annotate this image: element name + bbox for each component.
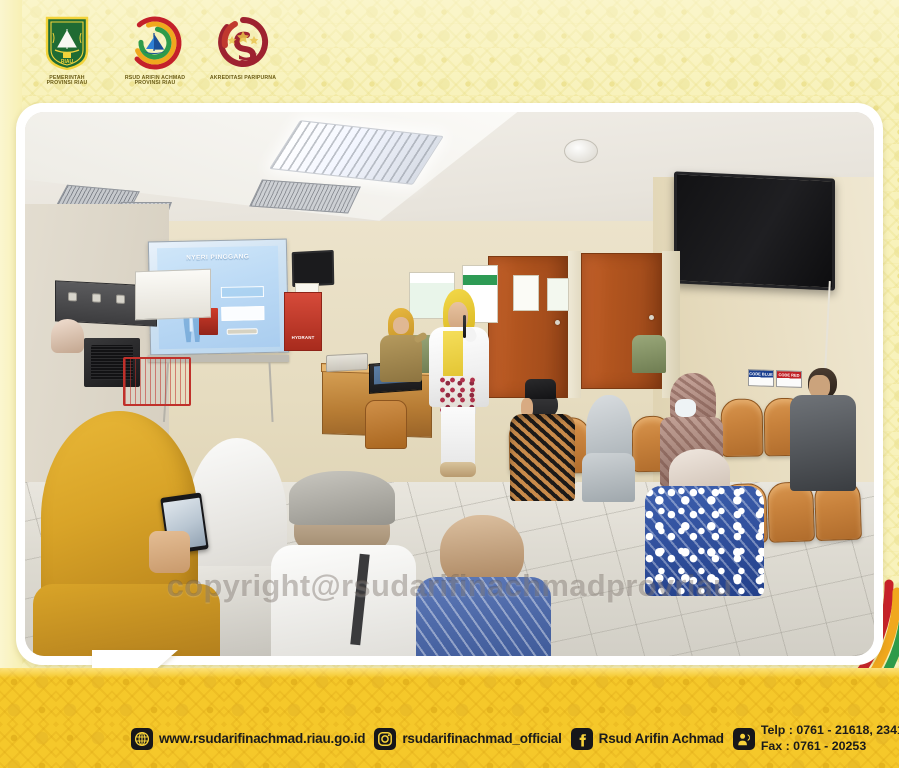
attendee-recording-phone xyxy=(33,411,220,656)
logo-caption: RSUD ARIFIN ACHMAD PROVINSI RIAU xyxy=(125,76,185,87)
projector-device xyxy=(326,353,368,373)
footer-website[interactable]: www.rsudarifinachmad.riau.go.id xyxy=(131,728,365,750)
telp-label: Telp : 0761 - 21618, 23418, 21657 xyxy=(761,723,899,737)
small-wall-tv xyxy=(292,250,335,288)
white-wall-cabinet xyxy=(135,268,211,320)
logo-akreditasi-paripurna: AKREDITASI PARIPURNA xyxy=(206,14,280,81)
header-logo-row: RIAU PEMERINTAH PROVINSI RIAU RSUD ARIFI… xyxy=(30,14,280,87)
wall-mounted-tv xyxy=(674,171,835,290)
wall-pillar xyxy=(568,251,582,398)
kars-accreditation-logo-icon xyxy=(213,14,273,72)
door-handle-icon xyxy=(649,315,654,320)
face-mask-icon xyxy=(675,399,695,416)
attendee-seated-khaki xyxy=(377,308,425,384)
svg-text:RIAU: RIAU xyxy=(61,59,74,65)
facebook-label: Rsud Arifin Achmad xyxy=(599,731,724,746)
attendee-right-man xyxy=(789,368,857,488)
white-pants xyxy=(441,407,475,464)
facebook-icon xyxy=(571,728,593,750)
white-shirt xyxy=(271,545,415,656)
logo-rsud-arifin-achmad: RSUD ARIFIN ACHMAD PROVINSI RIAU xyxy=(118,14,192,87)
attendee-foreground-cap xyxy=(271,471,415,656)
globe-icon xyxy=(131,728,153,750)
body xyxy=(33,584,220,656)
peci-cap xyxy=(525,379,556,399)
logo-caption: PEMERINTAH PROVINSI RIAU xyxy=(47,76,88,87)
wall-socket-icon xyxy=(92,294,101,303)
attendee-blue-batik xyxy=(645,449,764,590)
hand xyxy=(149,531,190,573)
hydrant-label: HYDRANT xyxy=(285,335,321,340)
slide-title: NYERI PINGGANG xyxy=(157,252,278,262)
microphone-icon xyxy=(463,315,467,338)
wall-poster xyxy=(547,278,569,311)
footer-bar: www.rsudarifinachmad.riau.go.id rsudarif… xyxy=(0,668,899,768)
door-handle-icon xyxy=(555,320,560,325)
attendee-foreground-blue xyxy=(416,515,552,656)
footer-facebook[interactable]: Rsud Arifin Achmad xyxy=(571,728,724,750)
blue-shirt xyxy=(416,577,552,656)
red-trolley xyxy=(123,357,191,406)
riau-province-emblem-icon: RIAU xyxy=(44,14,90,72)
batik-shirt xyxy=(510,414,575,500)
footer-contact[interactable]: Telp : 0761 - 21618, 23418, 21657 Fax : … xyxy=(733,723,899,754)
phone-contact-icon xyxy=(733,728,755,750)
hijab xyxy=(51,319,83,353)
wall-poster xyxy=(513,275,538,310)
blue-batik-outfit xyxy=(645,486,764,596)
attendee-grey-hijab xyxy=(577,395,641,498)
poster-canvas: RIAU PEMERINTAH PROVINSI RIAU RSUD ARIFI… xyxy=(0,0,899,768)
wall-socket-icon xyxy=(68,292,77,301)
presenter-speaker xyxy=(420,289,496,479)
logo-pemerintah-provinsi-riau: RIAU PEMERINTAH PROVINSI RIAU xyxy=(30,14,104,87)
slide-footer-bar xyxy=(226,328,258,335)
cap xyxy=(289,471,396,525)
side-chair xyxy=(365,400,407,449)
slide-text-block xyxy=(221,306,265,321)
body xyxy=(790,395,855,491)
shoes xyxy=(440,462,475,477)
fire-hydrant-cabinet: HYDRANT xyxy=(284,292,322,352)
slide-text-block xyxy=(221,286,265,298)
attendee-batik-man xyxy=(509,379,577,499)
contact-lines: Telp : 0761 - 21618, 23418, 21657 Fax : … xyxy=(761,723,899,754)
clinic-banner-title xyxy=(463,276,497,284)
green-chair xyxy=(632,335,666,373)
code-blue-sign: CODE BLUE xyxy=(748,369,774,387)
photo-frame: NYERI PINGGANG xyxy=(16,103,883,665)
logo-caption: AKREDITASI PARIPURNA xyxy=(210,76,276,81)
footer-contact-row: www.rsudarifinachmad.riau.go.id rsudarif… xyxy=(131,723,899,754)
face xyxy=(393,317,409,334)
face xyxy=(809,375,829,398)
footer-instagram[interactable]: rsudarifinachmad_official xyxy=(374,728,561,750)
fax-label: Fax : 0761 - 20253 xyxy=(761,739,866,753)
event-photo: NYERI PINGGANG xyxy=(25,112,874,656)
footer-top-fade xyxy=(0,668,899,678)
wall-socket-icon xyxy=(116,295,125,304)
website-label: www.rsudarifinachmad.riau.go.id xyxy=(159,731,365,746)
rsud-arifin-achmad-logo-icon xyxy=(127,14,183,72)
body xyxy=(582,453,635,503)
instagram-icon xyxy=(374,728,396,750)
bench-seat xyxy=(720,398,763,457)
instagram-label: rsudarifinachmad_official xyxy=(402,731,561,746)
attendee-background xyxy=(46,319,88,368)
